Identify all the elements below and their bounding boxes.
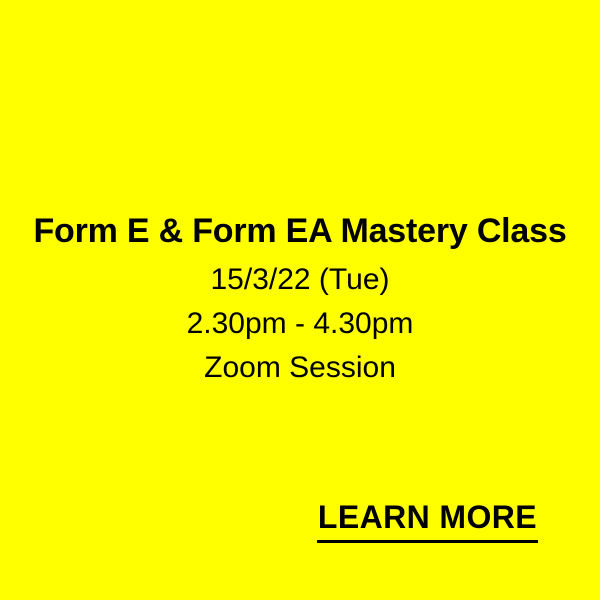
page-title: Form E & Form EA Mastery Class xyxy=(0,210,600,252)
learn-more-link[interactable]: LEARN MORE xyxy=(317,498,538,543)
event-time: 2.30pm - 4.30pm xyxy=(0,302,600,346)
event-date: 15/3/22 (Tue) xyxy=(0,258,600,302)
cta-container: LEARN MORE xyxy=(0,498,600,543)
promo-card: Form E & Form EA Mastery Class 15/3/22 (… xyxy=(0,0,600,600)
event-location: Zoom Session xyxy=(0,346,600,390)
event-details-list: 15/3/22 (Tue) 2.30pm - 4.30pm Zoom Sessi… xyxy=(0,258,600,390)
card-text-block: Form E & Form EA Mastery Class 15/3/22 (… xyxy=(0,210,600,390)
